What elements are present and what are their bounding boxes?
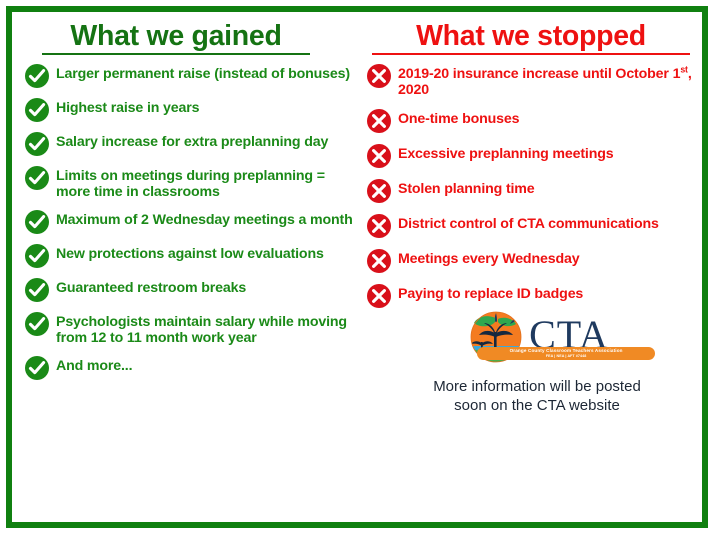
list-item-label: Psychologists maintain salary while movi… <box>56 313 358 347</box>
footer-line-2: soon on the CTA website <box>372 397 702 416</box>
cta-logo-text: CTA Orange County Classroom Teachers Ass… <box>529 316 609 354</box>
stopped-column: What we stopped 2019-20 insurance increa… <box>364 12 708 528</box>
list-item: Highest raise in years <box>24 99 358 123</box>
check-circle-icon <box>24 355 50 381</box>
x-circle-icon <box>366 248 392 274</box>
stopped-heading: What we stopped <box>372 22 690 55</box>
list-item: And more... <box>24 357 358 381</box>
gained-list: Larger permanent raise (instead of bonus… <box>24 65 358 381</box>
list-item: Larger permanent raise (instead of bonus… <box>24 65 358 89</box>
list-item: District control of CTA communications <box>366 215 698 239</box>
list-item-label: Salary increase for extra preplanning da… <box>56 133 328 151</box>
list-item: Excessive preplanning meetings <box>366 145 698 169</box>
list-item-label: Meetings every Wednesday <box>398 250 579 268</box>
cta-logo: CTA Orange County Classroom Teachers Ass… <box>372 304 702 366</box>
stopped-list: 2019-20 insurance increase until October… <box>366 65 698 309</box>
list-item: 2019-20 insurance increase until October… <box>366 65 698 99</box>
x-circle-icon <box>366 108 392 134</box>
list-item-label-main: 2019-20 insurance increase until October… <box>398 66 680 82</box>
check-circle-icon <box>24 277 50 303</box>
gained-column: What we gained Larger permanent raise (i… <box>12 12 364 528</box>
x-circle-icon <box>366 178 392 204</box>
footer-note: More information will be posted soon on … <box>372 378 702 416</box>
list-item: Salary increase for extra preplanning da… <box>24 133 358 157</box>
list-item: New protections against low evaluations <box>24 245 358 269</box>
cta-affiliations: FEA | NEA | AFT #7448 <box>477 354 655 359</box>
check-circle-icon <box>24 165 50 191</box>
list-item: Limits on meetings during preplanning = … <box>24 167 358 201</box>
cta-logo-banner: Orange County Classroom Teachers Associa… <box>477 347 655 360</box>
list-item-label: Limits on meetings during preplanning = … <box>56 167 358 201</box>
flyer-page: What we gained Larger permanent raise (i… <box>0 0 720 540</box>
list-item-label: And more... <box>56 357 132 375</box>
gained-heading: What we gained <box>42 22 310 55</box>
list-item-label: Excessive preplanning meetings <box>398 145 614 163</box>
list-item: One-time bonuses <box>366 110 698 134</box>
footer-line-1: More information will be posted <box>372 378 702 397</box>
list-item-label: Stolen planning time <box>398 180 535 198</box>
x-circle-icon <box>366 63 392 89</box>
list-item-label: Maximum of 2 Wednesday meetings a month <box>56 211 353 229</box>
list-item: Meetings every Wednesday <box>366 250 698 274</box>
list-item-label: One-time bonuses <box>398 110 519 128</box>
check-circle-icon <box>24 209 50 235</box>
ordinal-suffix: st <box>680 64 688 74</box>
list-item-label: 2019-20 insurance increase until October… <box>398 65 698 99</box>
list-item: Stolen planning time <box>366 180 698 204</box>
list-item: Maximum of 2 Wednesday meetings a month <box>24 211 358 235</box>
check-circle-icon <box>24 97 50 123</box>
list-item-label: Larger permanent raise (instead of bonus… <box>56 65 350 83</box>
list-item-label: District control of CTA communications <box>398 215 659 233</box>
list-item: Psychologists maintain salary while movi… <box>24 313 358 347</box>
x-circle-icon <box>366 143 392 169</box>
x-circle-icon <box>366 213 392 239</box>
check-circle-icon <box>24 131 50 157</box>
two-column-layout: What we gained Larger permanent raise (i… <box>12 12 708 528</box>
check-circle-icon <box>24 311 50 337</box>
list-item-label: Guaranteed restroom breaks <box>56 279 246 297</box>
check-circle-icon <box>24 243 50 269</box>
cta-logo-block: CTA Orange County Classroom Teachers Ass… <box>372 304 702 416</box>
list-item-label: Paying to replace ID badges <box>398 285 583 303</box>
check-circle-icon <box>24 63 50 89</box>
list-item-label: Highest raise in years <box>56 99 199 117</box>
list-item-label: New protections against low evaluations <box>56 245 324 263</box>
list-item: Guaranteed restroom breaks <box>24 279 358 303</box>
